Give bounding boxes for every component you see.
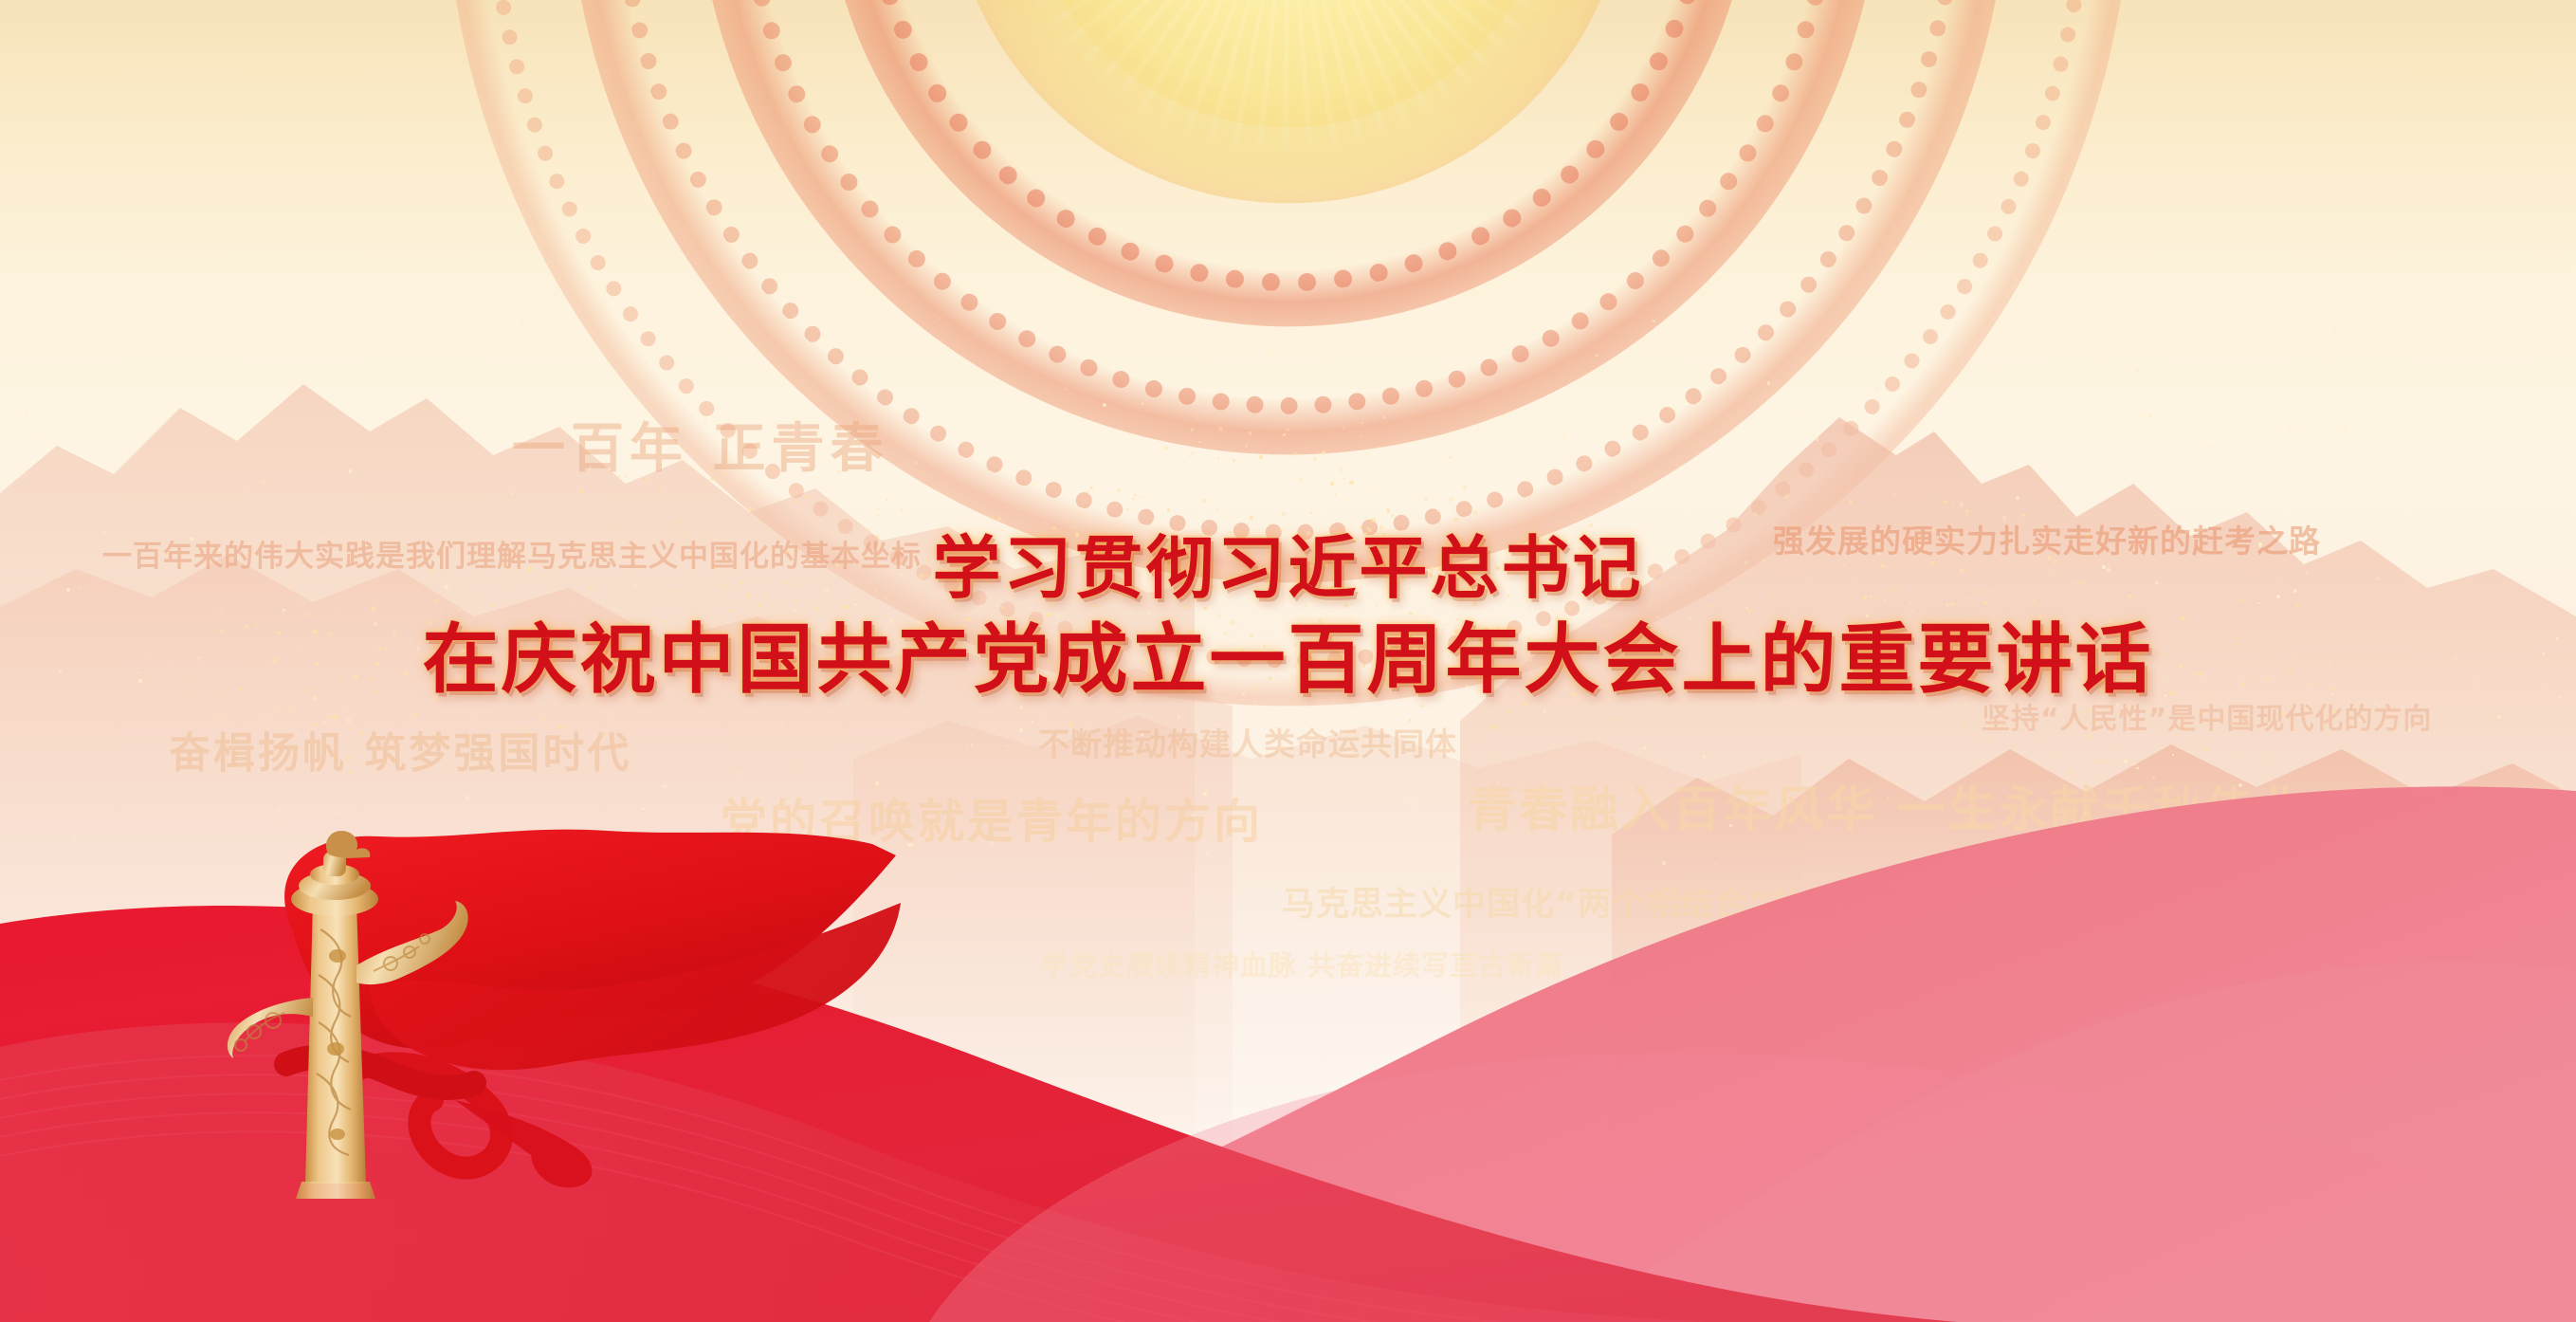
watermark-text-2: 一百年来的伟大实践是我们理解马克思主义中国化的基本坐标: [102, 532, 922, 575]
watermark-text-6: 坚持“人民性”是中国现代化的方向: [1982, 695, 2432, 737]
huabiao-and-flag-emblem: [171, 816, 910, 1214]
watermark-text-3: 强发展的硬实力扎实走好新的赶考之路: [1773, 516, 2321, 561]
watermark-text-1: 一百年 正青春: [512, 406, 889, 483]
centenary-banner: 一百年 正青春 一百年来的伟大实践是我们理解马克思主义中国化的基本坐标 强发展的…: [0, 0, 2576, 1322]
